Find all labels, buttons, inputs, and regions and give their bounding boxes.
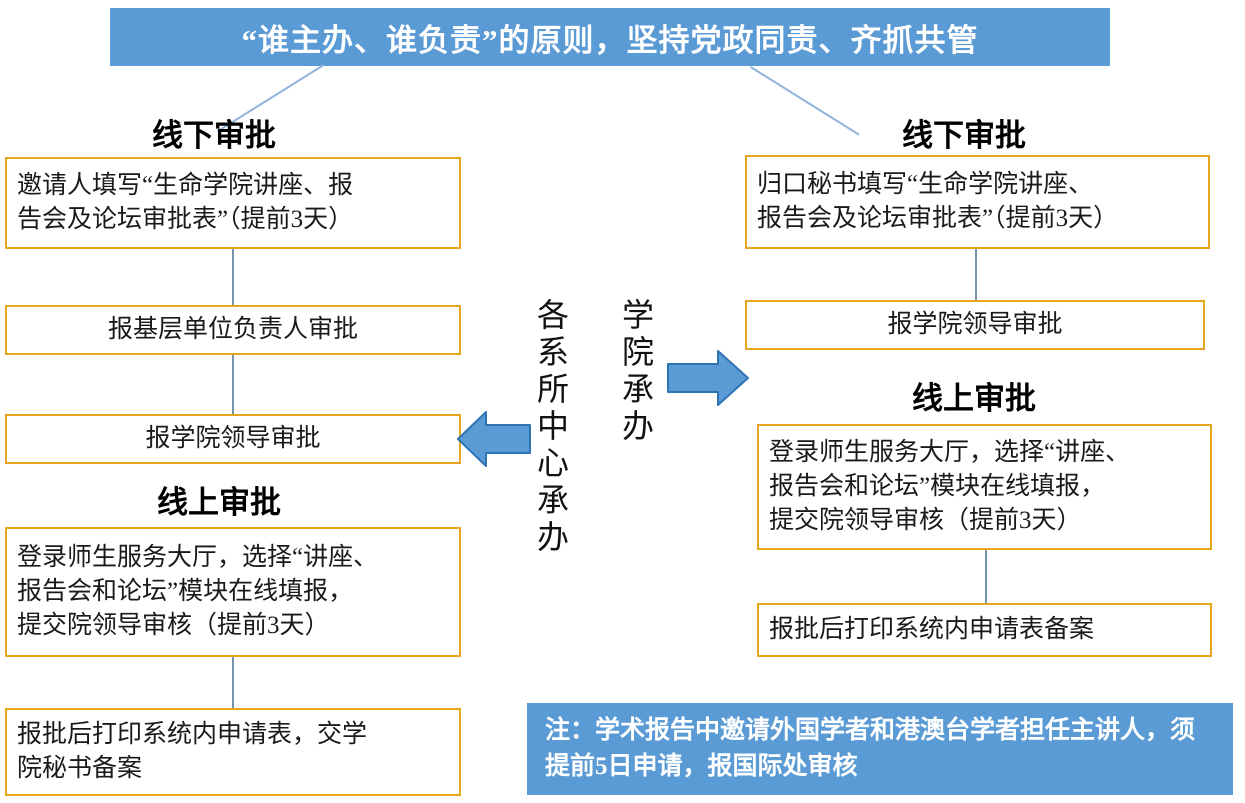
left-connector-1 (232, 249, 234, 305)
left-heading-online: 线上审批 (157, 477, 281, 522)
right-step-1-box[interactable]: 归口秘书填写“生命学院讲座、 报告会及论坛审批表”（提前3天） (745, 155, 1210, 249)
lane-caption-college: 学院承办 (620, 298, 652, 446)
left-heading-online-label: 线上审批 (157, 485, 281, 520)
arrow-right-to-college-lane (666, 345, 750, 411)
left-step-3-box[interactable]: 报学院领导审批 (5, 414, 461, 464)
flowchart-canvas: “谁主办、谁负责”的原则，坚持党政同责、齐抓共管 线下审批 邀请人填写“生命学院… (0, 0, 1245, 803)
right-heading-online: 线上审批 (912, 373, 1036, 418)
left-step-5-label: 报批后打印系统内申请表，交学 院秘书备案 (17, 718, 449, 786)
left-step-5-box[interactable]: 报批后打印系统内申请表，交学 院秘书备案 (5, 708, 461, 796)
left-step-4-box[interactable]: 登录师生服务大厅，选择“讲座、 报告会和论坛”模块在线填报， 提交院领导审核（提… (5, 527, 461, 657)
right-step-3-box[interactable]: 登录师生服务大厅，选择“讲座、 报告会和论坛”模块在线填报， 提交院领导审核（提… (757, 424, 1212, 550)
right-step-1-label: 归口秘书填写“生命学院讲座、 报告会及论坛审批表”（提前3天） (757, 168, 1198, 236)
left-step-2-box[interactable]: 报基层单位负责人审批 (5, 305, 461, 355)
lane-caption-college-label: 学院承办 (618, 298, 654, 446)
right-connector-2 (985, 550, 987, 604)
arrow-left-to-department-lane (456, 406, 532, 472)
right-step-2-box[interactable]: 报学院领导审批 (745, 300, 1205, 350)
left-connector-2 (232, 355, 234, 415)
right-heading-offline: 线下审批 (902, 110, 1026, 155)
leader-line-right (750, 66, 860, 136)
left-step-1-box[interactable]: 邀请人填写“生命学院讲座、报 告会及论坛审批表”（提前3天） (5, 157, 461, 249)
right-step-4-label: 报批后打印系统内申请表备案 (769, 613, 1200, 647)
title-banner: “谁主办、谁负责”的原则，坚持党政同责、齐抓共管 (110, 8, 1110, 66)
right-heading-online-label: 线上审批 (912, 381, 1036, 416)
left-step-2-label: 报基层单位负责人审批 (7, 313, 459, 347)
note-banner-label: 注：学术报告中邀请外国学者和港澳台学者担任主讲人，须提前5日申请，报国际处审核 (545, 717, 1195, 780)
left-step-4-label: 登录师生服务大厅，选择“讲座、 报告会和论坛”模块在线填报， 提交院领导审核（提… (17, 541, 449, 642)
title-banner-label: “谁主办、谁负责”的原则，坚持党政同责、齐抓共管 (242, 15, 979, 60)
right-heading-offline-label: 线下审批 (902, 118, 1026, 153)
right-step-4-box[interactable]: 报批后打印系统内申请表备案 (757, 603, 1212, 657)
note-banner: 注：学术报告中邀请外国学者和港澳台学者担任主讲人，须提前5日申请，报国际处审核 (527, 703, 1233, 795)
left-heading-offline: 线下审批 (152, 110, 276, 155)
lane-caption-department: 各系所中心承办 (535, 298, 567, 557)
right-connector-1 (975, 249, 977, 301)
right-step-2-label: 报学院领导审批 (747, 308, 1203, 342)
left-step-3-label: 报学院领导审批 (7, 422, 459, 456)
lane-caption-department-label: 各系所中心承办 (533, 298, 569, 557)
right-step-3-label: 登录师生服务大厅，选择“讲座、 报告会和论坛”模块在线填报， 提交院领导审核（提… (769, 436, 1200, 537)
left-heading-offline-label: 线下审批 (152, 118, 276, 153)
left-step-1-label: 邀请人填写“生命学院讲座、报 告会及论坛审批表”（提前3天） (17, 169, 449, 237)
left-connector-3 (232, 657, 234, 709)
